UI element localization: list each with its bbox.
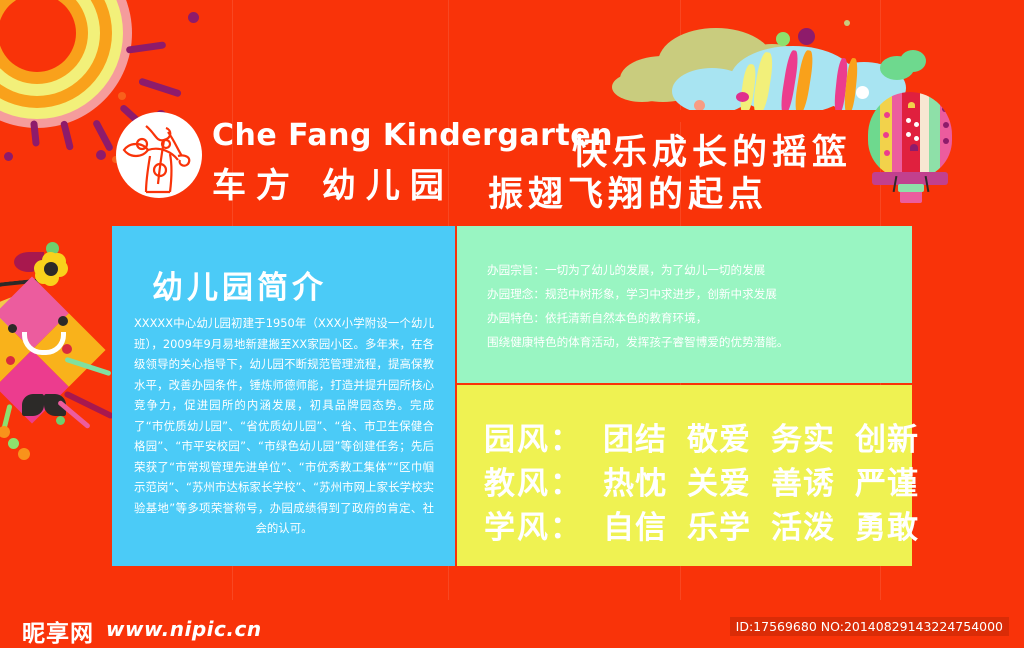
philosophy-line: 围绕健康特色的体育活动，发挥孩子睿智博爱的优势潜能。 bbox=[487, 330, 907, 354]
asset-id-badge: ID:17569680 NO:20140829143224754000 bbox=[730, 617, 1009, 636]
motto-label: 教风： bbox=[484, 466, 583, 502]
motto-row: 园风：团结敬爱务实创新 bbox=[484, 414, 919, 459]
philosophy-list: 办园宗旨：一切为了幼儿的发展，为了幼儿一切的发展 办园理念：规范中树形象，学习中… bbox=[487, 258, 907, 354]
site-url[interactable]: www.nipic.cn bbox=[106, 617, 262, 641]
sun-icon bbox=[0, 0, 132, 128]
motto-word: 敬爱 bbox=[687, 414, 751, 459]
slogan-line-2: 振翅飞翔的起点 bbox=[488, 166, 768, 217]
motto-word: 活泼 bbox=[771, 502, 835, 547]
motto-label: 园风： bbox=[484, 422, 583, 458]
motto-row: 教风：热忱关爱善诱严谨 bbox=[484, 458, 919, 503]
motto-word: 务实 bbox=[771, 414, 835, 459]
motto-word: 热忱 bbox=[603, 458, 667, 503]
kindergarten-logo bbox=[116, 112, 202, 198]
motto-word: 善诱 bbox=[771, 458, 835, 503]
site-logo: 昵享网 bbox=[22, 614, 94, 648]
motto-label: 学风： bbox=[484, 510, 583, 546]
motto-word: 自信 bbox=[603, 502, 667, 547]
motto-row: 学风：自信乐学活泼勇敢 bbox=[484, 502, 919, 547]
motto-word: 关爱 bbox=[687, 458, 751, 503]
motto-word: 乐学 bbox=[687, 502, 751, 547]
intro-body: XXXXX中心幼儿园初建于1950年（XXX小学附设一个幼儿班），2009年9月… bbox=[134, 313, 434, 539]
kite-icon bbox=[0, 236, 90, 452]
hot-air-balloon-icon bbox=[868, 92, 960, 204]
motto-word: 严谨 bbox=[855, 458, 919, 503]
intro-title: 幼儿园简介 bbox=[152, 262, 327, 307]
cloud-icon bbox=[612, 22, 912, 122]
brand-name-chinese: 车方 幼儿园 bbox=[212, 158, 454, 207]
philosophy-line: 办园宗旨：一切为了幼儿的发展，为了幼儿一切的发展 bbox=[487, 258, 907, 282]
poster-canvas: Che Fang Kindergarten 车方 幼儿园 快乐成长的摇篮 振翅飞… bbox=[0, 0, 1024, 648]
brand-name-english: Che Fang Kindergarten bbox=[212, 118, 613, 153]
motto-word: 团结 bbox=[603, 414, 667, 459]
motto-word: 创新 bbox=[855, 414, 919, 459]
philosophy-line: 办园特色：依托清新自然本色的教育环境， bbox=[487, 306, 907, 330]
footer-bar: 昵享网 www.nipic.cn ID:17569680 NO:20140829… bbox=[0, 600, 1024, 648]
philosophy-line: 办园理念：规范中树形象，学习中求进步，创新中求发展 bbox=[487, 282, 907, 306]
flower-icon bbox=[34, 252, 68, 286]
motto-word: 勇敢 bbox=[855, 502, 919, 547]
